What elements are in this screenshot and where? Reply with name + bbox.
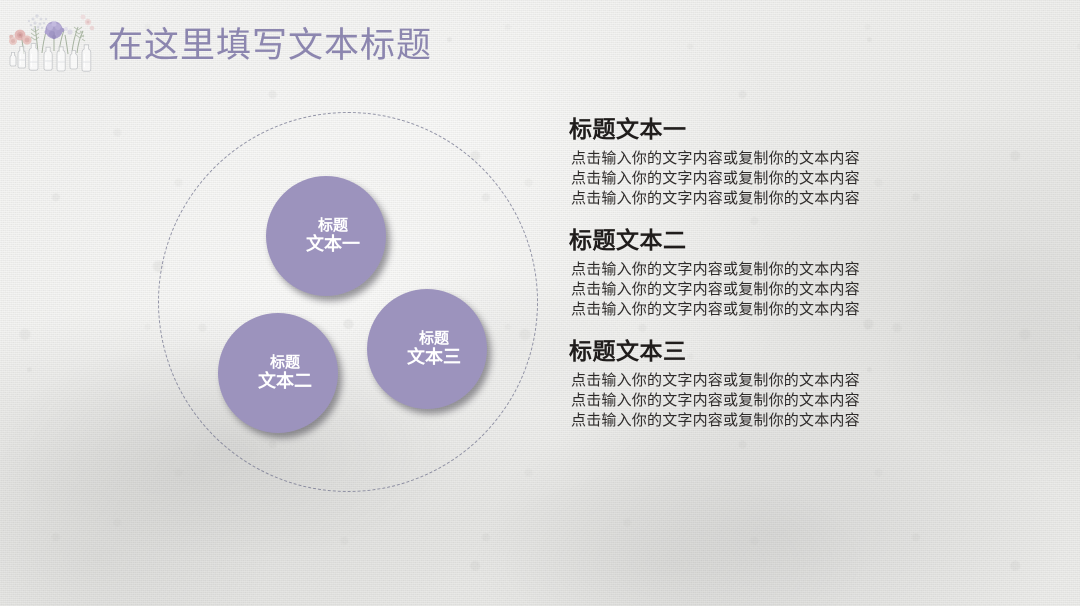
content-block-1-body: 点击输入你的文字内容或复制你的文本内容 点击输入你的文字内容或复制你的文本内容 … xyxy=(571,149,989,209)
diagram-node-1-line1: 标题 xyxy=(318,217,348,235)
slide-canvas: 在这里填写文本标题 标题 文本一 标题 文本二 标题 文本三 标题文本一 点击输… xyxy=(0,0,1080,606)
diagram-node-1[interactable]: 标题 文本一 xyxy=(266,176,386,296)
content-block-2: 标题文本二 点击输入你的文字内容或复制你的文本内容 点击输入你的文字内容或复制你… xyxy=(569,227,989,320)
content-block-3-line-1: 点击输入你的文字内容或复制你的文本内容 xyxy=(571,371,989,391)
content-block-2-line-1: 点击输入你的文字内容或复制你的文本内容 xyxy=(571,260,989,280)
diagram-node-1-line2: 文本一 xyxy=(306,234,360,255)
content-block-3-body: 点击输入你的文字内容或复制你的文本内容 点击输入你的文字内容或复制你的文本内容 … xyxy=(571,371,989,431)
content-block-3: 标题文本三 点击输入你的文字内容或复制你的文本内容 点击输入你的文字内容或复制你… xyxy=(569,338,989,431)
content-block-2-body: 点击输入你的文字内容或复制你的文本内容 点击输入你的文字内容或复制你的文本内容 … xyxy=(571,260,989,320)
content-block-3-line-3: 点击输入你的文字内容或复制你的文本内容 xyxy=(571,411,989,431)
content-block-2-title: 标题文本二 xyxy=(569,227,989,254)
dashed-circle-icon xyxy=(158,112,538,492)
content-block-1-line-2: 点击输入你的文字内容或复制你的文本内容 xyxy=(571,169,989,189)
diagram-node-2-line1: 标题 xyxy=(270,354,300,372)
content-block-2-line-3: 点击输入你的文字内容或复制你的文本内容 xyxy=(571,300,989,320)
content-block-1: 标题文本一 点击输入你的文字内容或复制你的文本内容 点击输入你的文字内容或复制你… xyxy=(569,116,989,209)
content-block-2-line-2: 点击输入你的文字内容或复制你的文本内容 xyxy=(571,280,989,300)
circle-diagram: 标题 文本一 标题 文本二 标题 文本三 xyxy=(0,0,560,606)
content-block-1-line-3: 点击输入你的文字内容或复制你的文本内容 xyxy=(571,189,989,209)
content-block-3-line-2: 点击输入你的文字内容或复制你的文本内容 xyxy=(571,391,989,411)
diagram-node-2[interactable]: 标题 文本二 xyxy=(218,313,338,433)
diagram-node-2-line2: 文本二 xyxy=(258,371,312,392)
content-block-1-line-1: 点击输入你的文字内容或复制你的文本内容 xyxy=(571,149,989,169)
content-column: 标题文本一 点击输入你的文字内容或复制你的文本内容 点击输入你的文字内容或复制你… xyxy=(569,116,989,431)
diagram-node-3[interactable]: 标题 文本三 xyxy=(367,289,487,409)
content-block-3-title: 标题文本三 xyxy=(569,338,989,365)
diagram-node-3-line2: 文本三 xyxy=(407,347,461,368)
diagram-node-3-line1: 标题 xyxy=(419,330,449,348)
content-block-1-title: 标题文本一 xyxy=(569,116,989,143)
